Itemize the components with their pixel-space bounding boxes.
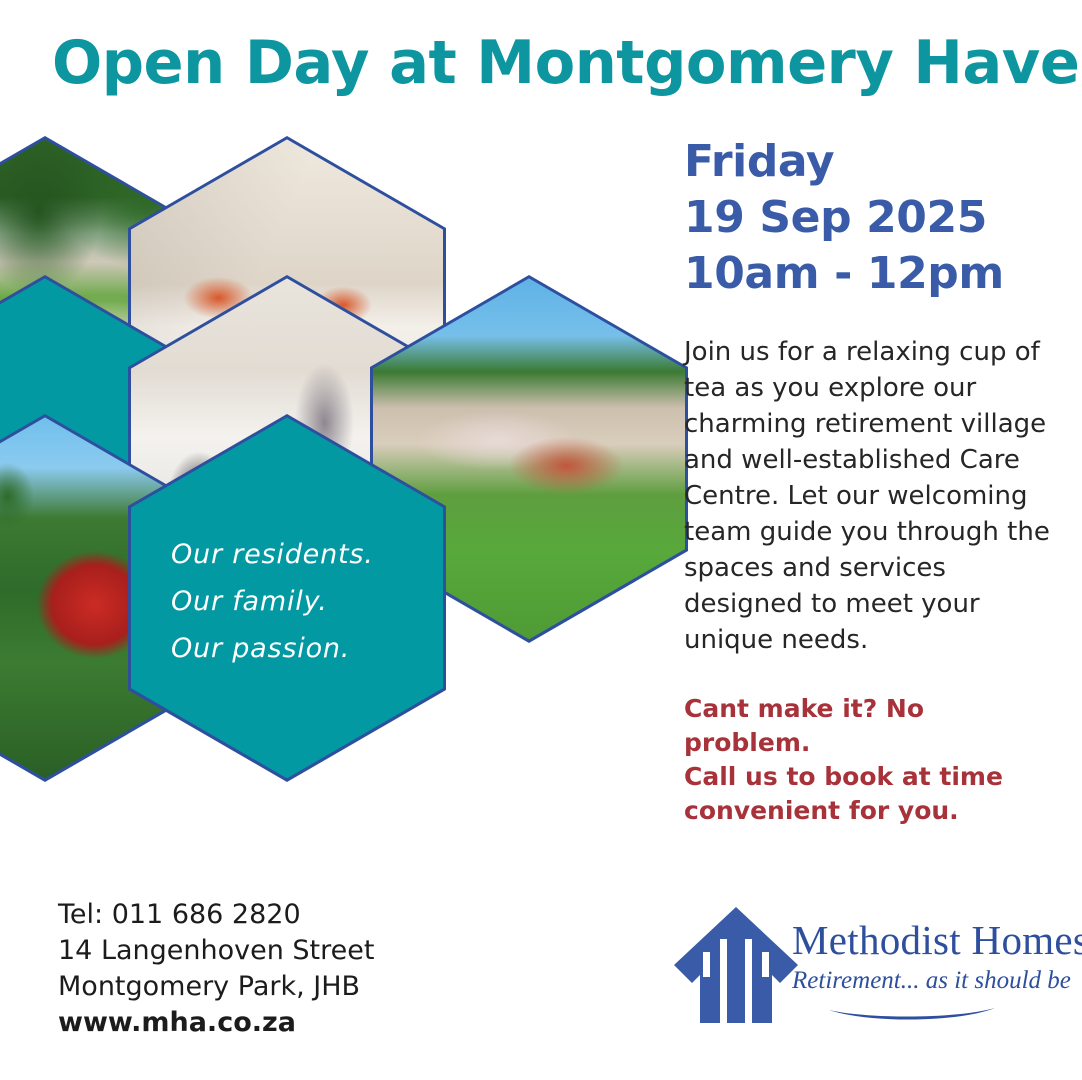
logo-name: Methodist Homes	[792, 917, 1062, 963]
logo-wordmark: Methodist Homes Retirement... as it shou…	[792, 917, 1062, 997]
event-time: 10am - 12pm	[684, 246, 1054, 302]
logo-tagline: Retirement... as it should be	[792, 965, 1062, 997]
hexagon-collage: Our residents. Our family. Our passion.	[0, 130, 660, 890]
cta-line-3: convenient for you.	[684, 794, 1059, 828]
tagline-line-1: Our residents.	[171, 531, 443, 578]
contact-suburb: Montgomery Park, JHB	[58, 969, 374, 1005]
logo-underline-swoosh	[827, 1007, 997, 1023]
contact-street: 14 Langenhoven Street	[58, 933, 374, 969]
tagline-line-3: Our passion.	[171, 625, 443, 672]
cta-line-2: Call us to book at time	[684, 760, 1059, 794]
house-with-cross-icon	[672, 903, 800, 1025]
page-title: Open Day at Montgomery Haven	[52, 30, 1027, 96]
event-description: Join us for a relaxing cup of tea as you…	[684, 334, 1054, 658]
call-to-action: Cant make it? No problem. Call us to boo…	[684, 692, 1059, 828]
event-date: 19 Sep 2025	[684, 190, 1054, 246]
brand-logo: Methodist Homes Retirement... as it shou…	[672, 903, 1062, 1028]
contact-phone: Tel: 011 686 2820	[58, 897, 374, 933]
contact-block: Tel: 011 686 2820 14 Langenhoven Street …	[58, 897, 374, 1041]
contact-website[interactable]: www.mha.co.za	[58, 1005, 374, 1041]
poster-canvas: Open Day at Montgomery Haven	[0, 0, 1082, 1080]
event-datetime: Friday 19 Sep 2025 10am - 12pm	[684, 134, 1054, 302]
details-column: Friday 19 Sep 2025 10am - 12pm Join us f…	[684, 134, 1054, 828]
event-day: Friday	[684, 134, 1054, 190]
tagline-line-2: Our family.	[171, 578, 443, 625]
cta-line-1: Cant make it? No problem.	[684, 692, 1059, 760]
